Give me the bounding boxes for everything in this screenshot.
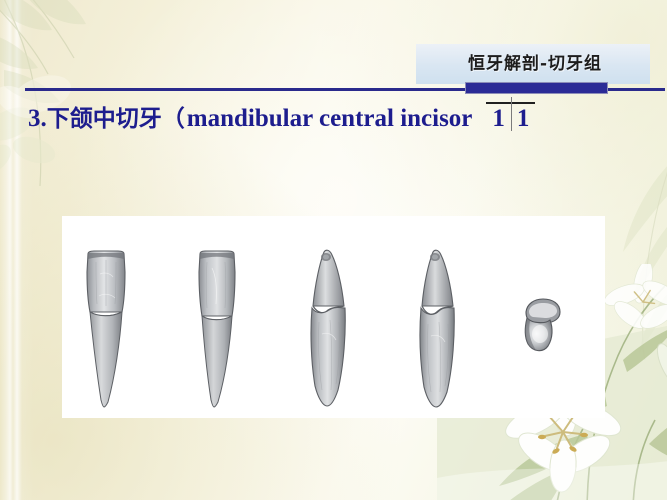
tooth-specimen-mesial	[300, 248, 356, 410]
header-banner-title: 恒牙解剖-切牙组	[430, 48, 640, 80]
notation-right-number: 1	[511, 105, 536, 132]
lily-flower-ornament-top-left	[0, 0, 172, 189]
tooth-specimen-labial	[80, 250, 132, 410]
notation-left-number: 1	[486, 105, 511, 132]
left-edge-stripes	[0, 0, 34, 500]
title-chinese-text: 下颌中切牙（	[47, 99, 185, 133]
tooth-specimen-incisal	[517, 296, 567, 356]
figure-panel	[62, 216, 605, 418]
header-divider-accent-bar	[465, 82, 608, 94]
tooth-specimen-distal	[407, 248, 465, 410]
page-title: 3. 下颌中切牙（ mandibular central incisor 11	[28, 99, 535, 133]
dental-notation: 11	[486, 102, 535, 133]
notation-midline	[511, 97, 512, 131]
title-english-text: mandibular central incisor	[187, 105, 473, 133]
title-number: 3.	[28, 105, 47, 133]
tooth-specimen-lingual	[192, 250, 242, 410]
slide-canvas: 恒牙解剖-切牙组 3. 下颌中切牙（ mandibular central in…	[0, 0, 667, 500]
